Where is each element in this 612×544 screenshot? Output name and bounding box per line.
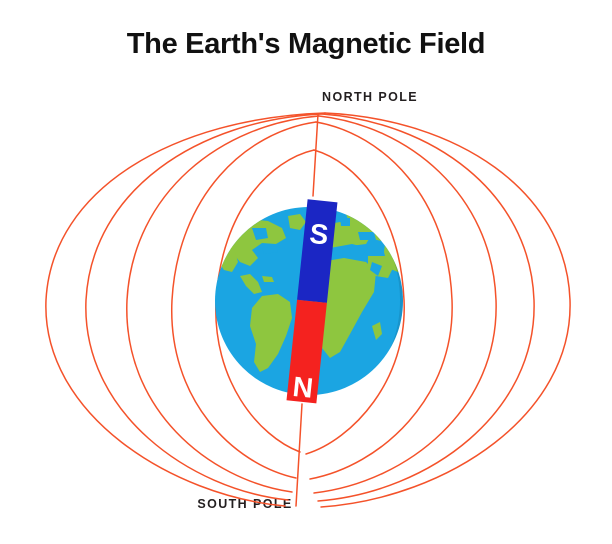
sea-baltic	[340, 218, 350, 226]
diagram-canvas: S N	[0, 0, 612, 544]
field-stub-south-center	[296, 404, 302, 506]
magnet-north-letter: N	[291, 371, 314, 404]
earth-globe: S N	[215, 199, 406, 404]
magnet-south-letter: S	[308, 218, 330, 251]
sea-black-caspian	[358, 232, 376, 240]
magnetic-field-diagram: The Earth's Magnetic Field NORTH POLE SO…	[0, 0, 612, 544]
field-stub-north-center	[313, 114, 318, 196]
